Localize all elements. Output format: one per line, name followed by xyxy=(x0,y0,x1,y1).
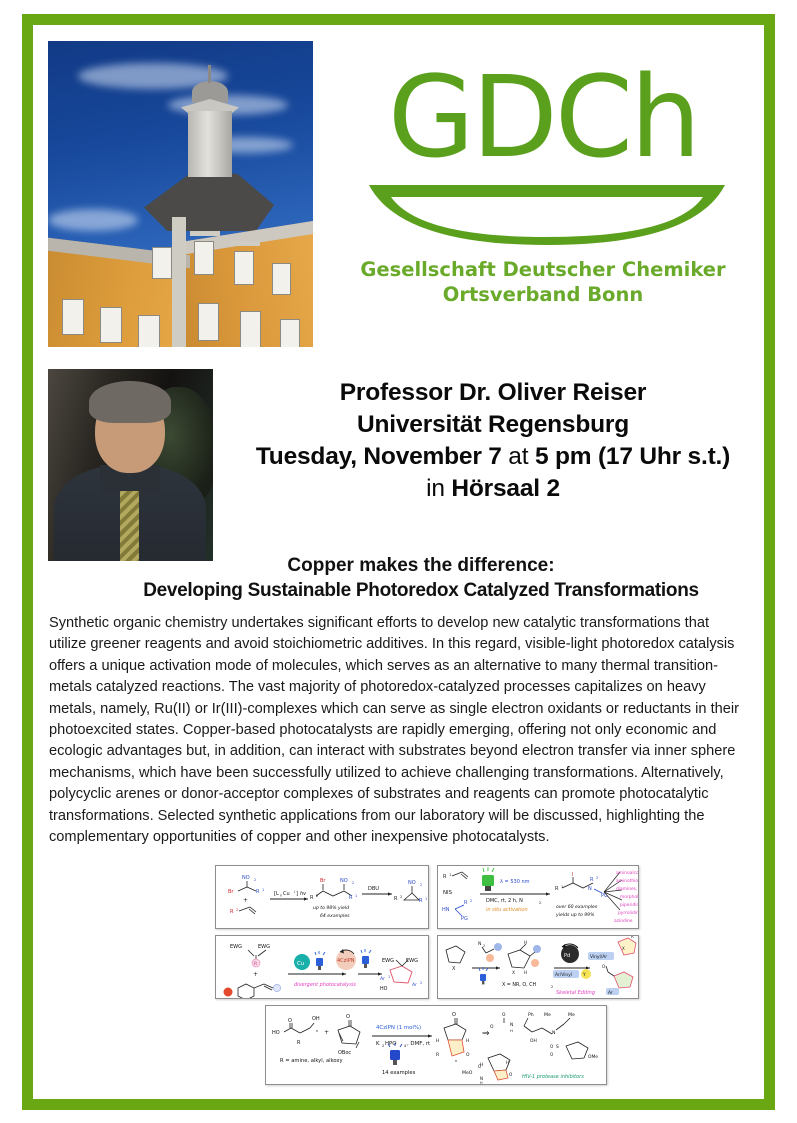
window xyxy=(240,311,261,347)
svg-text:azindine: azindine xyxy=(614,918,633,924)
scheme-panel-atra-cyclopropanation: NO 2 Br R 1 + R 2 [L n Cu xyxy=(215,865,429,929)
svg-text:HIV-1 protease inhibitors: HIV-1 protease inhibitors xyxy=(522,1074,584,1080)
scheme-3-graphic: EWG EWG R + Cu xyxy=(216,936,428,998)
svg-text:1: 1 xyxy=(449,873,451,877)
window xyxy=(62,299,84,335)
window xyxy=(100,307,122,343)
gdch-subtitle: Gesellschaft Deutscher Chemiker Ortsverb… xyxy=(333,257,753,307)
svg-text:1: 1 xyxy=(388,975,390,979)
svg-text:2: 2 xyxy=(352,881,354,885)
svg-text:R: R xyxy=(310,895,314,901)
svg-text:MeO: MeO xyxy=(462,1070,473,1076)
gdch-smile-icon xyxy=(367,181,727,247)
svg-text:OH: OH xyxy=(312,1016,320,1022)
poster-root: GDCh Gesellschaft Deutscher Chemiker Ort… xyxy=(0,0,797,1123)
building-corner xyxy=(172,217,186,347)
svg-text:⇒: ⇒ xyxy=(482,1029,490,1039)
scheme-1-graphic: NO 2 Br R 1 + R 2 [L n Cu xyxy=(216,866,428,928)
svg-text:2: 2 xyxy=(420,883,422,887)
svg-text:1: 1 xyxy=(262,888,264,892)
scheme-panel-skeletal-editing: X N 2 H xyxy=(437,935,639,999)
svg-text:1: 1 xyxy=(355,894,357,898)
svg-text:Cu: Cu xyxy=(283,891,290,897)
cloud xyxy=(48,209,138,231)
svg-text:OMe: OMe xyxy=(588,1054,598,1060)
svg-text:up to 98% yield: up to 98% yield xyxy=(313,905,349,911)
svg-text:R: R xyxy=(464,900,468,906)
svg-text:O: O xyxy=(466,1052,470,1058)
svg-text:Skeletal Editing: Skeletal Editing xyxy=(556,990,595,996)
svg-text:2: 2 xyxy=(382,1044,384,1048)
speaker-affiliation: Universität Regensburg xyxy=(223,409,763,441)
svg-text:H: H xyxy=(524,970,527,976)
svg-text:I: I xyxy=(294,890,295,894)
svg-text:O: O xyxy=(509,1072,513,1077)
event-time: 5 pm (17 Uhr s.t.) xyxy=(535,443,730,470)
svg-text:R: R xyxy=(590,877,594,883)
svg-text:O: O xyxy=(550,1044,553,1049)
svg-text:2: 2 xyxy=(470,899,472,903)
svg-text:divergent photocatalysis: divergent photocatalysis xyxy=(294,982,356,988)
svg-text:, DMF, rt: , DMF, rt xyxy=(407,1041,430,1047)
svg-text:Y: Y xyxy=(582,972,586,978)
window-sill xyxy=(190,231,220,236)
scheme-panel-divergent-photocatalysis: EWG EWG R + Cu xyxy=(215,935,429,999)
svg-text:2: 2 xyxy=(539,901,541,905)
svg-text:1: 1 xyxy=(425,897,427,901)
gdch-logo: GDCh Gesellschaft Deutscher Chemiker Ort… xyxy=(333,45,753,345)
svg-text:H: H xyxy=(524,940,527,946)
svg-text:R: R xyxy=(419,898,423,904)
svg-text:Ar: Ar xyxy=(608,990,613,996)
svg-text:NIS: NIS xyxy=(443,890,453,896)
svg-text:R: R xyxy=(349,895,353,901)
svg-text:Cu: Cu xyxy=(297,961,304,967)
scheme-2-graphic: R 1 NIS R 2 HN PG λ = 530 nm xyxy=(438,866,638,928)
scheme-5-graphic: O OH HO R n + O OBoc xyxy=(266,1006,606,1084)
window-sill xyxy=(230,241,260,246)
svg-text:PG: PG xyxy=(601,893,608,899)
svg-text:HO: HO xyxy=(380,986,388,992)
svg-text:O: O xyxy=(502,1012,506,1018)
svg-text:R: R xyxy=(394,896,398,902)
speaker-portrait xyxy=(48,369,213,561)
svg-text:N: N xyxy=(478,941,481,947)
svg-text:n: n xyxy=(455,1059,457,1063)
svg-text:2: 2 xyxy=(596,876,598,880)
window xyxy=(194,241,214,275)
svg-text:R: R xyxy=(436,1052,440,1058)
speaker-info: Professor Dr. Oliver Reiser Universität … xyxy=(223,377,763,505)
svg-text:H: H xyxy=(480,1081,483,1084)
svg-text:aminothiols,: aminothiols, xyxy=(616,878,638,884)
speaker-name: Professor Dr. Oliver Reiser xyxy=(223,377,763,409)
svg-text:R: R xyxy=(443,874,447,880)
green-frame: GDCh Gesellschaft Deutscher Chemiker Ort… xyxy=(22,14,775,1110)
svg-text:2: 2 xyxy=(400,895,402,899)
svg-text:O: O xyxy=(346,1014,350,1020)
svg-text:4CzIPN: 4CzIPN xyxy=(337,958,355,964)
svg-text:Vinyl/Ar: Vinyl/Ar xyxy=(590,954,607,960)
talk-title-line2: Developing Sustainable Photoredox Cataly… xyxy=(78,578,764,604)
svg-text:H: H xyxy=(436,1038,439,1044)
svg-text:Ar: Ar xyxy=(380,976,385,982)
svg-text:+: + xyxy=(243,897,248,904)
svg-text:2: 2 xyxy=(483,944,485,948)
svg-text:[L: [L xyxy=(274,891,279,897)
svg-text:R: R xyxy=(230,909,234,915)
svg-text:S: S xyxy=(556,1044,559,1050)
abstract-text: Synthetic organic chemistry undertakes s… xyxy=(49,613,749,848)
scheme-4-graphic: X N 2 H xyxy=(438,936,638,998)
svg-text:pyrrolidines: pyrrolidines xyxy=(618,910,638,916)
svg-text:N: N xyxy=(552,1030,555,1036)
venue-name: Hörsaal 2 xyxy=(451,475,560,502)
svg-text:DBU: DBU xyxy=(368,886,379,892)
svg-text:OH: OH xyxy=(530,1038,537,1044)
portrait-tie xyxy=(120,481,139,561)
svg-text:Me: Me xyxy=(568,1012,575,1018)
poster-inner: GDCh Gesellschaft Deutscher Chemiker Ort… xyxy=(33,25,764,1099)
window xyxy=(280,319,300,347)
svg-text:X: X xyxy=(512,970,515,976)
svg-text:2: 2 xyxy=(236,908,238,912)
gdch-subtitle-line1: Gesellschaft Deutscher Chemiker xyxy=(333,257,753,282)
svg-text:+: + xyxy=(253,971,258,978)
window xyxy=(272,263,291,295)
svg-text:HO: HO xyxy=(272,1030,280,1036)
svg-text:in situ activation: in situ activation xyxy=(486,907,528,913)
window xyxy=(152,247,172,279)
tower-spire xyxy=(208,65,211,83)
svg-text:HN: HN xyxy=(442,907,450,913)
svg-text:NO: NO xyxy=(242,875,250,881)
svg-text:]: ] xyxy=(296,891,298,897)
svg-text:64 examples: 64 examples xyxy=(320,913,350,919)
svg-text:O: O xyxy=(478,1064,481,1069)
svg-text:2: 2 xyxy=(316,894,318,898)
svg-text:R: R xyxy=(555,886,559,892)
window xyxy=(198,303,219,341)
talk-title: Copper makes the difference: Developing … xyxy=(78,553,764,604)
svg-text:2: 2 xyxy=(551,985,553,989)
svg-text:Br: Br xyxy=(320,878,326,884)
svg-text:H: H xyxy=(506,1060,509,1066)
svg-text:H: H xyxy=(510,1029,513,1033)
svg-text:X: X xyxy=(622,946,625,951)
svg-text:R: R xyxy=(256,889,260,895)
event-datetime: Tuesday, November 7 at 5 pm (17 Uhr s.t.… xyxy=(223,441,763,473)
window xyxy=(234,251,254,285)
svg-text:yields up to 99%: yields up to 99% xyxy=(555,912,594,918)
window xyxy=(138,315,160,347)
svg-text:hv: hv xyxy=(300,891,307,897)
svg-text:H: H xyxy=(466,1038,469,1044)
svg-text:EWG: EWG xyxy=(258,944,270,950)
svg-text:DMC, rt, 2 h, N: DMC, rt, 2 h, N xyxy=(486,898,523,904)
svg-text:2: 2 xyxy=(254,878,256,882)
svg-text:morpholines: morpholines xyxy=(620,894,638,900)
svg-text:EWG: EWG xyxy=(382,958,394,964)
svg-text:R = amine, alkyl, alkoxy: R = amine, alkyl, alkoxy xyxy=(280,1058,343,1064)
svg-text:O: O xyxy=(602,964,605,969)
svg-text:O: O xyxy=(550,1052,553,1057)
svg-text:n: n xyxy=(280,894,282,898)
svg-text:X: X xyxy=(452,966,456,972)
svg-text:Ar: Ar xyxy=(412,982,417,988)
header-row: GDCh Gesellschaft Deutscher Chemiker Ort… xyxy=(33,25,764,355)
building-photo xyxy=(48,41,313,347)
svg-text:N: N xyxy=(510,1022,513,1028)
svg-text:K: K xyxy=(376,1041,380,1047)
svg-text:2: 2 xyxy=(420,981,422,985)
tower xyxy=(188,111,232,177)
svg-text:X = NR, O, CH: X = NR, O, CH xyxy=(502,982,537,988)
svg-text:R: R xyxy=(254,961,257,967)
svg-text:PG: PG xyxy=(461,916,468,922)
svg-text:+: + xyxy=(324,1029,329,1036)
svg-text:piperidines: piperidines xyxy=(620,902,638,908)
svg-text:O: O xyxy=(452,1012,456,1018)
scheme-figures: NO 2 Br R 1 + R 2 [L n Cu xyxy=(193,865,613,1107)
scheme-panel-hiv-protease-inhibitors: O OH HO R n + O OBoc xyxy=(265,1005,607,1085)
svg-text:14 examples: 14 examples xyxy=(382,1070,416,1076)
svg-text:EWG: EWG xyxy=(406,958,418,964)
gdch-subtitle-line2: Ortsverband Bonn xyxy=(333,282,753,307)
svg-text:n: n xyxy=(316,1029,318,1033)
svg-text:Ar/Vinyl: Ar/Vinyl xyxy=(555,972,572,978)
svg-text:Ph: Ph xyxy=(528,1012,534,1018)
svg-text:R: R xyxy=(631,936,634,939)
svg-text:Pd: Pd xyxy=(564,953,570,959)
svg-text:NO: NO xyxy=(340,878,348,884)
talk-title-line1: Copper makes the difference: xyxy=(78,553,764,578)
svg-text:NO: NO xyxy=(408,880,416,886)
svg-text:O: O xyxy=(490,1024,494,1030)
svg-text:diamines, ..: diamines, .. xyxy=(616,886,638,892)
svg-text:Me: Me xyxy=(544,1012,551,1018)
svg-text:λ = 530 nm: λ = 530 nm xyxy=(500,879,530,885)
svg-text:OBoc: OBoc xyxy=(338,1050,351,1056)
scheme-panel-aminoiodination: R 1 NIS R 2 HN PG λ = 530 nm xyxy=(437,865,639,929)
event-date-connector: at xyxy=(502,443,535,470)
gdch-wordmark: GDCh xyxy=(333,53,753,183)
svg-text:1: 1 xyxy=(561,885,563,889)
svg-text:4CzIPN (1 mol%): 4CzIPN (1 mol%) xyxy=(376,1025,421,1031)
venue-prefix: in xyxy=(426,475,451,502)
portrait-hair xyxy=(89,381,171,423)
svg-text:Br: Br xyxy=(228,889,234,895)
svg-text:over 60 examples: over 60 examples xyxy=(556,904,598,910)
svg-text:N: N xyxy=(588,886,592,892)
event-date: Tuesday, November 7 xyxy=(256,443,502,470)
svg-text:aminoalcohols,: aminoalcohols, xyxy=(616,870,638,876)
svg-text:EWG: EWG xyxy=(230,944,242,950)
svg-text:R: R xyxy=(297,1040,301,1046)
event-venue: in Hörsaal 2 xyxy=(223,473,763,505)
